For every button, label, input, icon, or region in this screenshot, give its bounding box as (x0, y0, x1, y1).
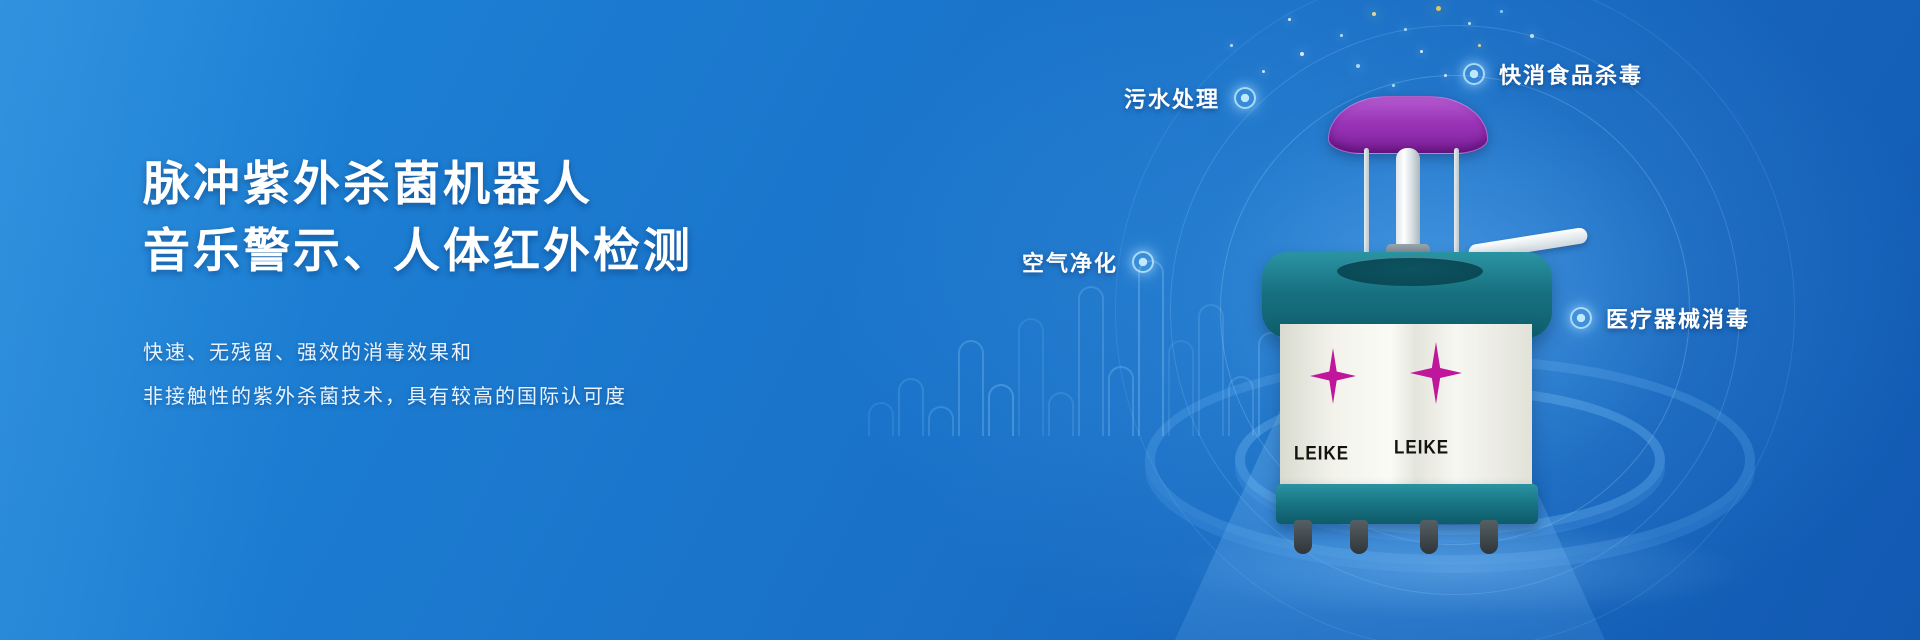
sparkle-dot (1288, 18, 1291, 21)
sparkle-dot (1500, 10, 1503, 13)
waveform-bar (988, 384, 1014, 436)
uv-lamp-tube (1396, 148, 1420, 252)
hotspot-air-purification[interactable]: 空气净化 (1022, 246, 1154, 278)
lamp-strut-left (1364, 148, 1369, 254)
caster-wheel (1420, 520, 1438, 554)
sparkle-dot (1404, 28, 1407, 31)
subline-2: 非接触性的紫外杀菌技术，具有较高的国际认可度 (143, 375, 693, 418)
sparkle-dot (1300, 52, 1304, 56)
sparkle-dot (1530, 34, 1534, 38)
lamp-strut-right (1454, 148, 1459, 254)
sparkle-dot (1436, 6, 1441, 11)
waveform-bar (1138, 260, 1164, 436)
promo-banner: 脉冲紫外杀菌机器人 音乐警示、人体红外检测 快速、无残留、强效的消毒效果和 非接… (0, 0, 1920, 640)
sparkle-dot (1340, 34, 1343, 37)
brand-label-left: LEIKE (1294, 443, 1349, 465)
sparkle-dot (1230, 44, 1233, 47)
sparkle-dot (1372, 12, 1376, 16)
uv-disinfection-robot: LEIKE LEIKE (1232, 96, 1572, 506)
caster-wheel (1480, 520, 1498, 554)
hotspot-label: 快消食品杀毒 (1499, 58, 1643, 90)
subline-1: 快速、无残留、强效的消毒效果和 (143, 331, 693, 374)
headline-line-1: 脉冲紫外杀菌机器人 (143, 152, 693, 219)
sparkle-dot (1392, 84, 1395, 87)
hotspot-label: 空气净化 (1022, 246, 1118, 278)
sparkle-dot (1356, 64, 1360, 68)
sparkle-dot (1478, 44, 1481, 47)
waveform-bar (868, 402, 894, 436)
headline-line-2: 音乐警示、人体红外检测 (143, 219, 693, 286)
waveform-bar (1078, 286, 1104, 436)
waveform-bar (1018, 318, 1044, 436)
robot-top-recess (1337, 256, 1483, 286)
caster-wheel (1350, 520, 1368, 554)
waveform-bar (1168, 340, 1194, 436)
hotspot-medical-device-disinfection[interactable]: 医疗器械消毒 (1570, 302, 1750, 334)
brand-label-right: LEIKE (1394, 437, 1449, 459)
hotspot-label: 污水处理 (1124, 82, 1220, 114)
banner-copy: 脉冲紫外杀菌机器人 音乐警示、人体红外检测 快速、无残留、强效的消毒效果和 非接… (143, 152, 693, 418)
waveform-bar (1048, 392, 1074, 436)
sparkle-dot (1262, 70, 1265, 73)
waveform-bar (958, 340, 984, 436)
waveform-bar (928, 406, 954, 436)
waveform-bar (1108, 366, 1134, 436)
robot-body-column (1280, 324, 1532, 492)
uv-lamp-dome-icon (1328, 96, 1488, 154)
glow-dot-icon (1570, 307, 1592, 329)
sparkle-dot (1420, 50, 1423, 53)
banner-subcopy: 快速、无残留、强效的消毒效果和 非接触性的紫外杀菌技术，具有较高的国际认可度 (143, 331, 693, 417)
sparkle-dot (1444, 74, 1447, 77)
hotspot-fmcg-food-sterilization[interactable]: 快消食品杀毒 (1463, 58, 1643, 90)
glow-dot-icon (1132, 251, 1154, 273)
sparkle-dot (1468, 22, 1471, 25)
robot-base-shell (1276, 484, 1538, 524)
waveform-bar (1198, 304, 1224, 436)
waveform-bar (898, 378, 924, 436)
glow-dot-icon (1463, 63, 1485, 85)
hotspot-label: 医疗器械消毒 (1606, 302, 1750, 334)
caster-wheel (1294, 520, 1312, 554)
